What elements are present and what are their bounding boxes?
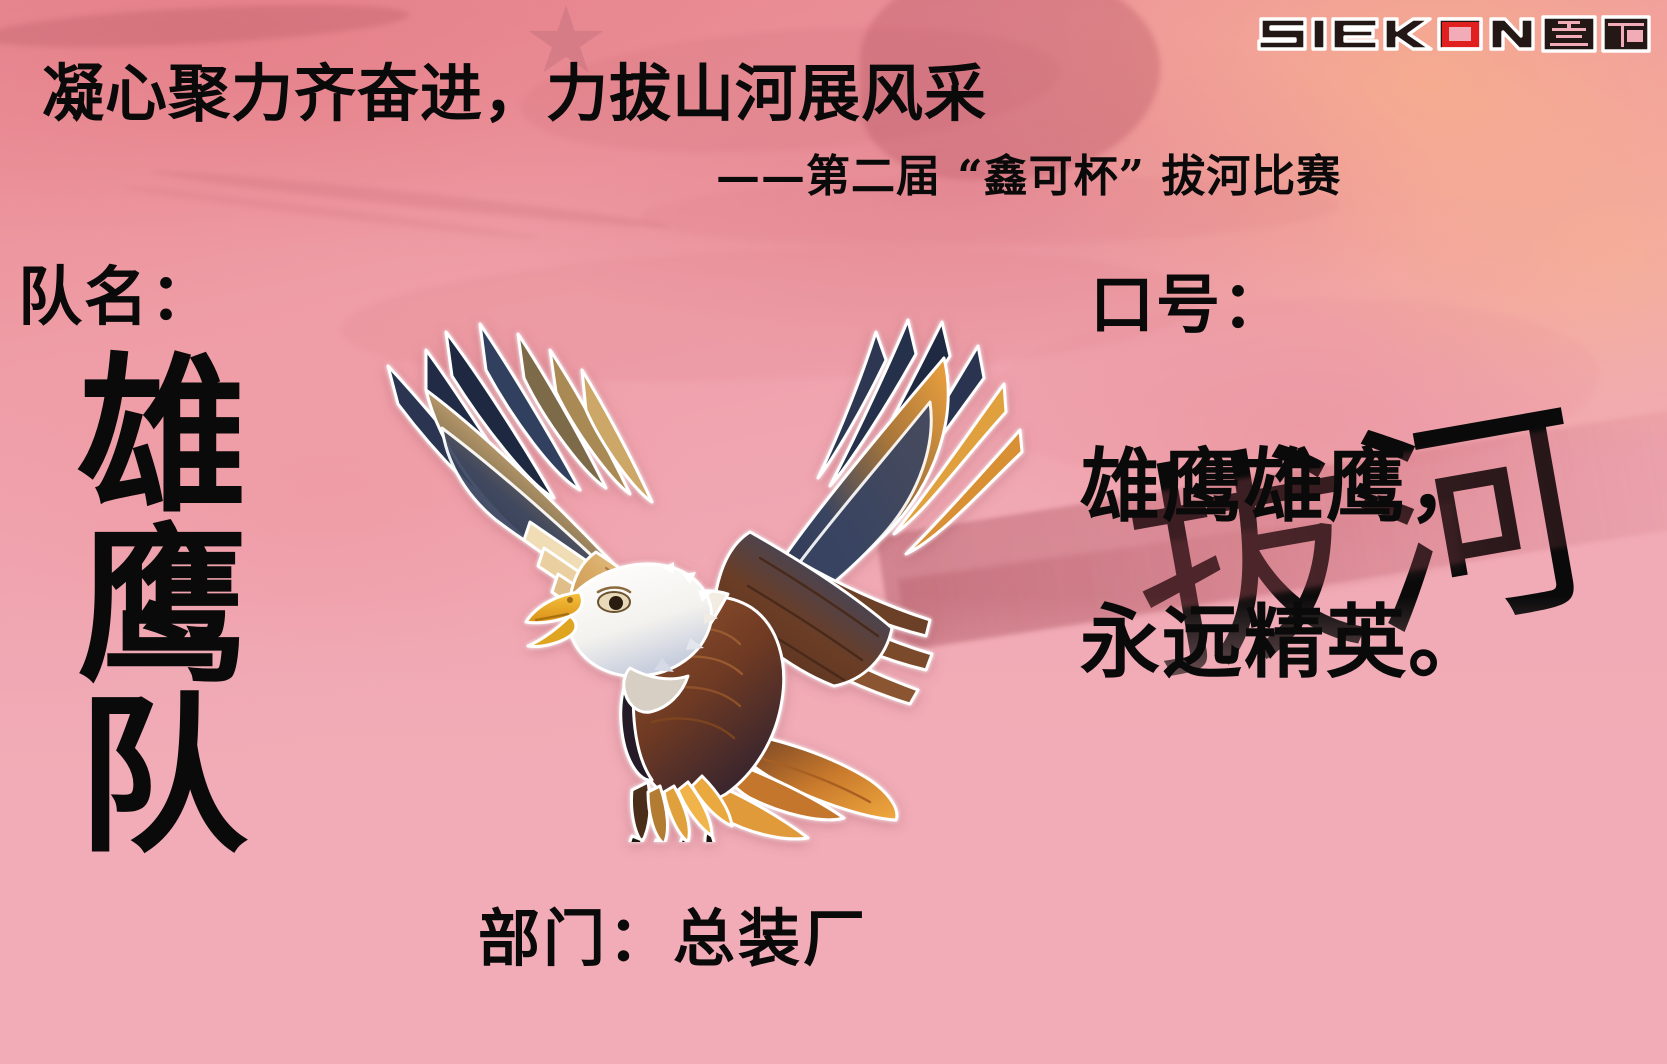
eagle-illustration <box>330 262 1030 842</box>
poster-canvas: 拔河 <box>0 0 1667 1064</box>
team-name-value: 雄鹰队 <box>60 346 233 946</box>
slogan-line-1: 雄鹰雄鹰， <box>1080 408 1490 564</box>
department-text: 部门：总装厂 <box>478 888 868 978</box>
slogan-label: 口号： <box>1090 254 1288 346</box>
slogan-line-2: 永远精英。 <box>1080 564 1490 720</box>
page-subtitle: ——第二届 “鑫可杯” 拔河比赛 <box>716 152 1341 203</box>
slogan-value: 雄鹰雄鹰， 永远精英。 <box>1080 408 1490 720</box>
page-title: 凝心聚力齐奋进，力拔山河展风采 <box>42 58 987 129</box>
team-name-label: 队名： <box>18 246 216 338</box>
eagle-artwork <box>330 262 1030 842</box>
siekon-logo[interactable] <box>1253 8 1653 56</box>
logo-artwork <box>1253 9 1653 55</box>
